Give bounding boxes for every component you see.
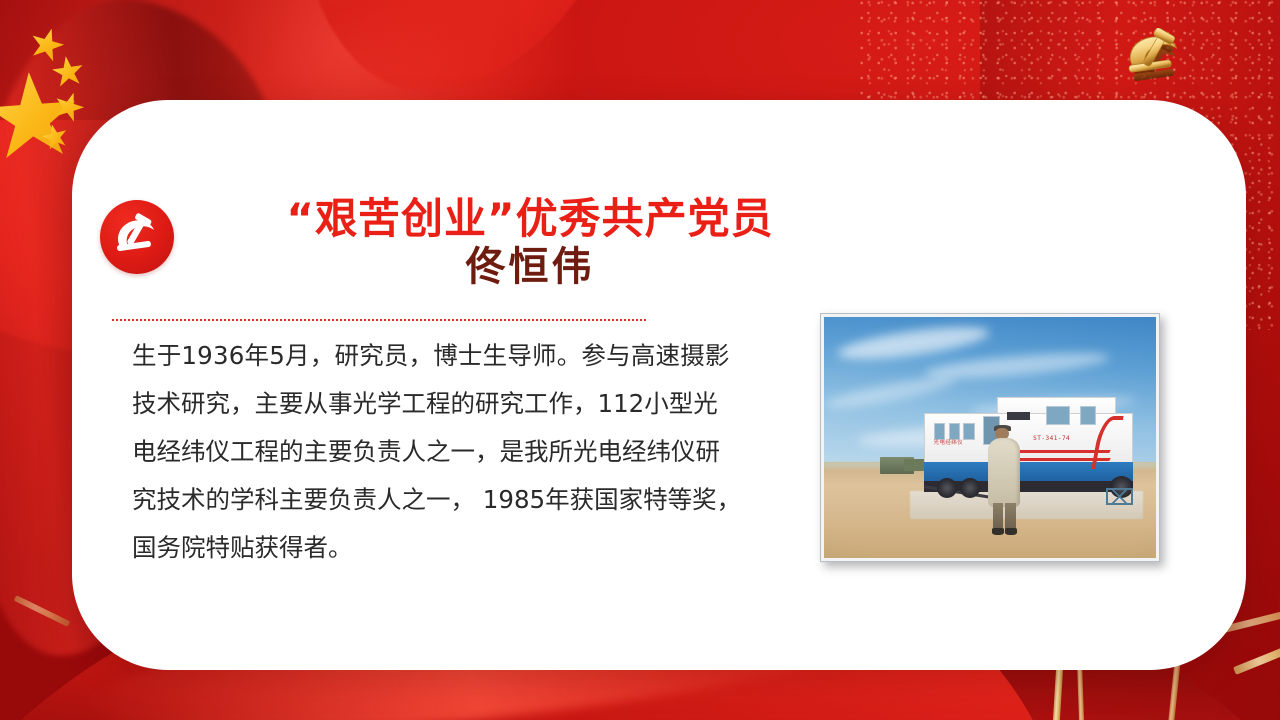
photo-trailer-window xyxy=(963,423,974,440)
gold-star-icon xyxy=(50,54,86,90)
content-card: “艰苦创业”优秀共产党员 佟恒伟 生于1936年5月，研究员，博士生导师。参与高… xyxy=(72,100,1246,670)
page-title: “艰苦创业”优秀共产党员 xyxy=(200,196,860,241)
photo-person-leg xyxy=(993,503,1004,530)
photo-distant-vehicle xyxy=(904,459,924,471)
biography-line: 生于1936年5月，研究员，博士生导师。参与高速摄影 xyxy=(132,332,818,380)
person-name: 佟恒伟 xyxy=(200,241,860,292)
photo-trailer-window xyxy=(1080,406,1097,425)
biography-line: 电经纬仪工程的主要负责人之一，是我所光电经纬仪研 xyxy=(132,428,818,476)
photo-person-leg xyxy=(1005,503,1016,530)
photo-trailer-wheel xyxy=(960,478,980,497)
photo-trailer-window xyxy=(1046,406,1069,425)
photo-person-boot xyxy=(992,528,1004,535)
large-gold-star-icon xyxy=(0,69,81,167)
gold-star-icon xyxy=(26,24,68,66)
title-block: “艰苦创业”优秀共产党员 佟恒伟 xyxy=(200,196,860,293)
biography-text: 生于1936年5月，研究员，博士生导师。参与高速摄影 技术研究，主要从事光学工程… xyxy=(132,332,818,572)
photo-person-coat xyxy=(988,438,1020,508)
biography-line: 国务院特贴获得者。 xyxy=(132,524,818,572)
biography-line: 究技术的学科主要负责人之一， 1985年获国家特等奖， xyxy=(132,476,818,524)
photo-person-boot xyxy=(1005,528,1017,535)
photo-trailer-panel xyxy=(1007,412,1030,420)
party-emblem-badge xyxy=(100,200,174,274)
photo-trailer-wheel xyxy=(937,478,957,497)
biography-line: 技术研究，主要从事光学工程的研究工作，112小型光 xyxy=(132,380,818,428)
portrait-photo-frame: ST-341-74 光电经纬仪 xyxy=(820,313,1160,562)
portrait-photo-desert-observation-trailer: ST-341-74 光电经纬仪 xyxy=(824,317,1156,558)
photo-trailer-code: ST-341-74 xyxy=(1033,435,1070,442)
photo-trailer-jack-stand xyxy=(1106,488,1133,505)
gold-hammer-sickle-emblem-icon xyxy=(1113,28,1205,90)
slide-root: “艰苦创业”优秀共产党员 佟恒伟 生于1936年5月，研究员，博士生导师。参与高… xyxy=(0,0,1280,720)
photo-trailer-code-secondary: 光电经纬仪 xyxy=(934,438,964,446)
dotted-divider xyxy=(112,319,646,321)
